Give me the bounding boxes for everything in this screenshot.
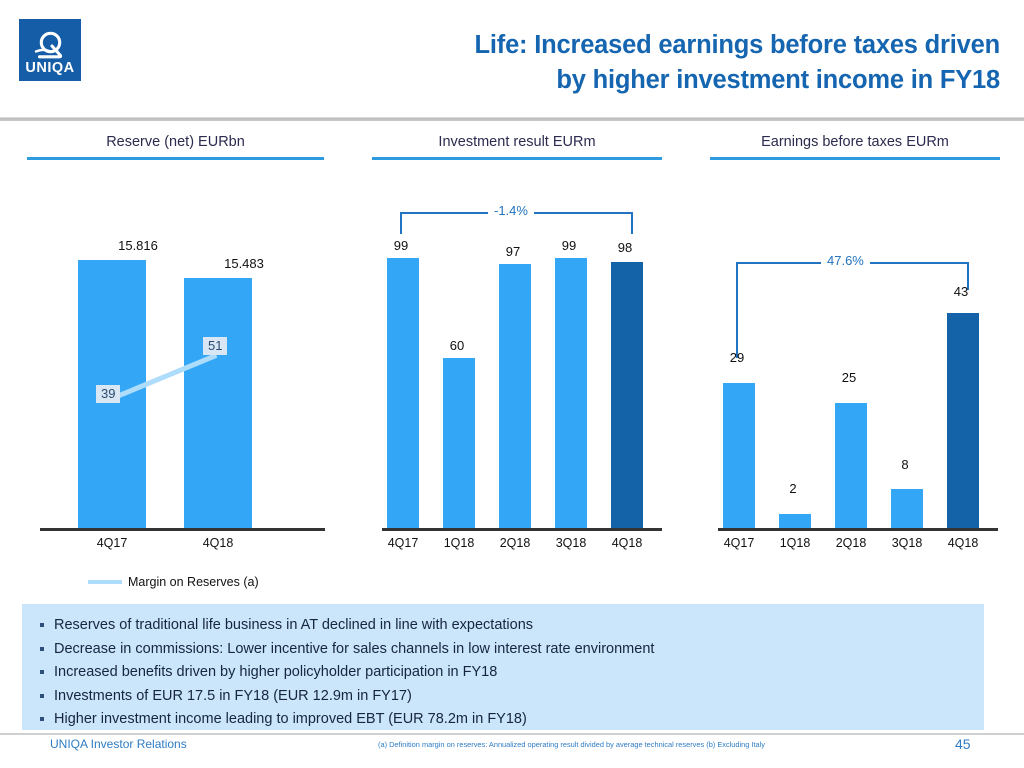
bar-3q18	[891, 489, 923, 528]
panel-reserve-net: Reserve (net) EURbn	[27, 134, 324, 160]
list-item: Reserves of traditional life business in…	[22, 614, 984, 637]
bar-value-label: 60	[436, 338, 478, 353]
list-item-text: Higher investment income leading to impr…	[54, 711, 527, 727]
x-tick-2q18: 2Q18	[826, 536, 876, 550]
header-divider	[0, 117, 1024, 121]
bar-3q18	[555, 258, 587, 528]
panel-title-investment: Investment result EURm	[372, 134, 662, 157]
x-tick-4q17: 4Q17	[378, 536, 428, 550]
bullet-square-icon	[40, 670, 44, 674]
bar-value-label: 43	[940, 284, 982, 299]
bar-value-label: 29	[716, 350, 758, 365]
bar-value-label: 15.483	[204, 256, 284, 271]
page-number: 45	[955, 736, 971, 752]
page-title: Life: Increased earnings before taxes dr…	[200, 28, 1000, 98]
x-tick-1q18: 1Q18	[434, 536, 484, 550]
svg-text:UNIQA: UNIQA	[25, 60, 74, 76]
bar-value-label: 99	[548, 238, 590, 253]
panel-title-ebt: Earnings before taxes EURm	[710, 134, 1000, 157]
x-axis-line	[382, 528, 662, 531]
x-tick-4q17: 4Q17	[714, 536, 764, 550]
x-tick-4q17: 4Q17	[72, 536, 152, 550]
chart-investment-result: -1.4% 99 60 97 99 98 4Q17 1Q18 2Q18 3Q18…	[382, 190, 662, 550]
chart-reserve-net: 15.816 15.483 39 51 4Q17 4Q18	[40, 190, 325, 550]
summary-box: Reserves of traditional life business in…	[22, 604, 984, 730]
panel-underline	[710, 157, 1000, 160]
legend: Margin on Reserves (a)	[88, 575, 259, 589]
bar-value-label: 8	[884, 457, 926, 472]
x-tick-2q18: 2Q18	[490, 536, 540, 550]
margin-marker-4q17: 39	[96, 385, 120, 403]
list-item-text: Investments of EUR 17.5 in FY18 (EUR 12.…	[54, 688, 412, 704]
bar-2q18	[499, 264, 531, 528]
x-tick-3q18: 3Q18	[546, 536, 596, 550]
x-tick-4q18: 4Q18	[178, 536, 258, 550]
bar-1q18	[443, 358, 475, 528]
page-title-line-2: by higher investment income in FY18	[200, 63, 1000, 98]
list-item-text: Decrease in commissions: Lower incentive…	[54, 641, 654, 657]
chart-earnings-before-taxes: 47.6% 29 2 25 8 43 4Q17 1Q18 2Q18 3Q18 4…	[718, 190, 998, 550]
panel-title-reserve: Reserve (net) EURbn	[27, 134, 324, 157]
x-axis-line	[718, 528, 998, 531]
footer-divider	[0, 733, 1024, 735]
bullet-square-icon	[40, 717, 44, 721]
list-item: Increased benefits driven by higher poli…	[22, 661, 984, 684]
list-item-text: Increased benefits driven by higher poli…	[54, 664, 497, 680]
list-item: Higher investment income leading to impr…	[22, 708, 984, 731]
footer-footnote: (a) Definition margin on reserves: Annua…	[378, 740, 765, 749]
legend-label-margin: Margin on Reserves (a)	[128, 575, 259, 589]
delta-bracket-label: -1.4%	[488, 203, 534, 218]
delta-bracket: -1.4%	[400, 212, 633, 234]
footer-brand: UNIQA Investor Relations	[50, 737, 187, 751]
bar-4q18	[184, 278, 252, 528]
bar-value-label: 99	[380, 238, 422, 253]
bar-value-label: 25	[828, 370, 870, 385]
panel-underline	[372, 157, 662, 160]
bullet-square-icon	[40, 623, 44, 627]
panel-underline	[27, 157, 324, 160]
bar-2q18	[835, 403, 867, 528]
bar-value-label: 97	[492, 244, 534, 259]
panel-investment-result: Investment result EURm	[372, 134, 662, 160]
bar-4q18	[611, 262, 643, 528]
panel-earnings-before-taxes: Earnings before taxes EURm	[710, 134, 1000, 160]
page-title-line-1: Life: Increased earnings before taxes dr…	[200, 28, 1000, 63]
list-item-text: Reserves of traditional life business in…	[54, 617, 533, 633]
bar-value-label: 2	[772, 481, 814, 496]
list-item: Decrease in commissions: Lower incentive…	[22, 638, 984, 661]
x-tick-4q18: 4Q18	[938, 536, 988, 550]
bar-value-label: 98	[604, 240, 646, 255]
x-tick-1q18: 1Q18	[770, 536, 820, 550]
summary-bullet-list: Reserves of traditional life business in…	[22, 604, 984, 731]
delta-bracket-label: 47.6%	[821, 253, 870, 268]
list-item: Investments of EUR 17.5 in FY18 (EUR 12.…	[22, 685, 984, 708]
legend-swatch-margin	[88, 580, 122, 584]
margin-marker-4q18: 51	[203, 337, 227, 355]
bar-value-label: 15.816	[98, 238, 178, 253]
delta-bracket: 47.6%	[736, 262, 969, 358]
uniqa-logo: UNIQA	[19, 19, 81, 81]
x-axis-line	[40, 528, 325, 531]
bar-1q18	[779, 514, 811, 528]
bar-4q17	[387, 258, 419, 528]
x-tick-4q18: 4Q18	[602, 536, 652, 550]
bullet-square-icon	[40, 647, 44, 651]
bar-4q17	[723, 383, 755, 528]
bar-4q18	[947, 313, 979, 528]
bullet-square-icon	[40, 694, 44, 698]
x-tick-3q18: 3Q18	[882, 536, 932, 550]
